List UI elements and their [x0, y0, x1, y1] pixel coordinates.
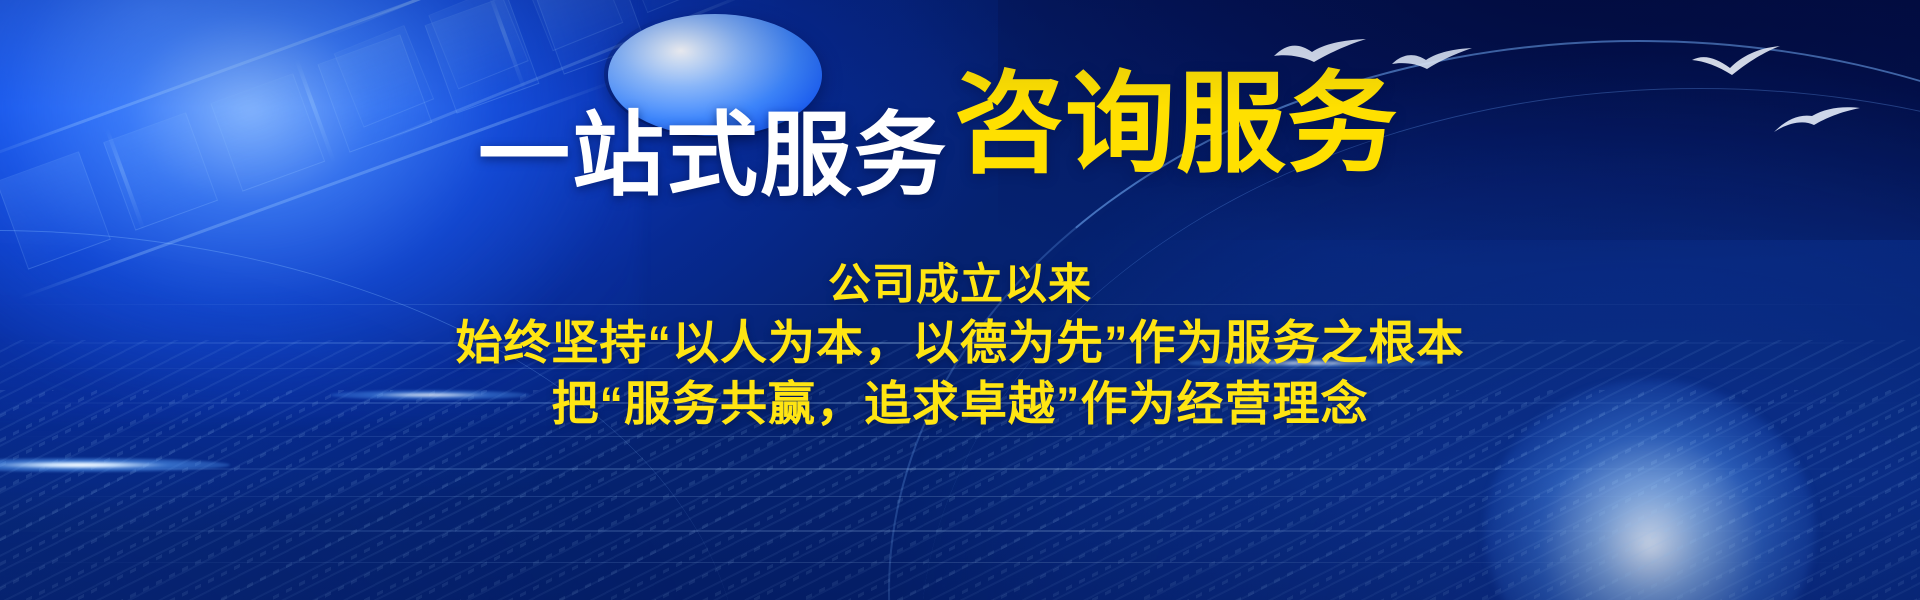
seagull-icon — [1690, 44, 1782, 78]
glossy-orb — [608, 14, 822, 136]
promo-banner: 一站式服务 咨询服务 公司成立以来 始终坚持“以人为本，以德为先”作为服务之根本… — [0, 0, 1920, 600]
seagull-icon — [1272, 36, 1368, 70]
seagull-icon — [1390, 46, 1474, 76]
seagull-icon — [1772, 104, 1862, 136]
lens-flare-right — [1180, 358, 1440, 368]
lens-flare-mid — [330, 390, 530, 400]
light-streaks — [0, 290, 1920, 600]
